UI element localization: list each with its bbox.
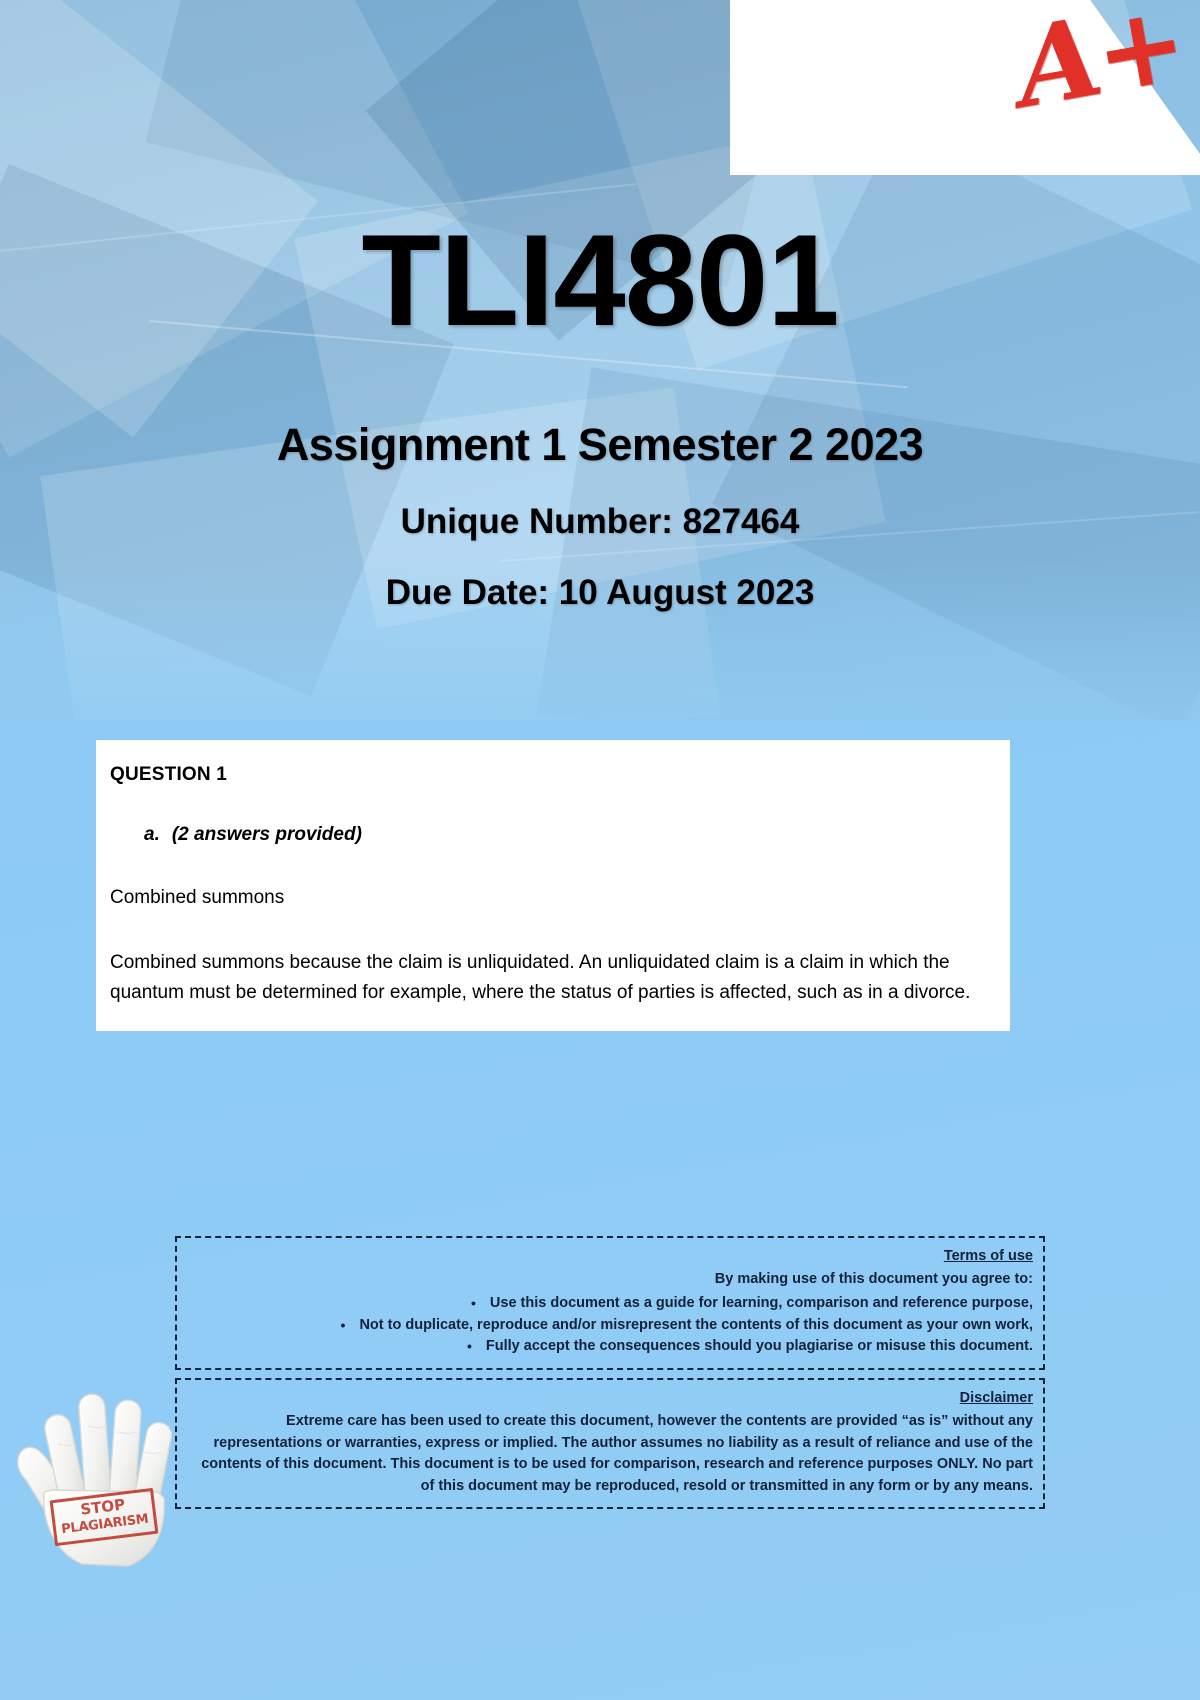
legal-notice-section: Terms of use By making use of this docum… bbox=[175, 1236, 1045, 1509]
course-code-title: TLI4801 bbox=[0, 215, 1200, 345]
terms-item-text: Fully accept the consequences should you… bbox=[486, 1338, 1033, 1354]
terms-of-use-box: Terms of use By making use of this docum… bbox=[175, 1236, 1045, 1370]
disclaimer-box: Disclaimer Extreme care has been used to… bbox=[175, 1378, 1045, 1509]
raised-hand-stop-plagiarism-icon: STOP PLAGIARISM bbox=[8, 1352, 198, 1582]
answer-short: Combined summons bbox=[110, 884, 996, 912]
question-preview-card: QUESTION 1 a.(2 answers provided) Combin… bbox=[96, 740, 1010, 1031]
terms-of-use-intro: By making use of this document you agree… bbox=[187, 1269, 1033, 1290]
a-plus-grade-icon: A+ bbox=[1008, 0, 1191, 124]
assignment-subtitle: Assignment 1 Semester 2 2023 bbox=[0, 345, 1200, 471]
cover-title-block: TLI4801 Assignment 1 Semester 2 2023 Uni… bbox=[0, 215, 1200, 613]
disclaimer-title: Disclaimer bbox=[187, 1388, 1033, 1409]
question-heading: QUESTION 1 bbox=[110, 764, 996, 786]
due-date-line: Due Date: 10 August 2023 bbox=[0, 542, 1200, 613]
terms-of-use-title: Terms of use bbox=[187, 1246, 1033, 1267]
sub-question-label: (2 answers provided) bbox=[172, 824, 362, 845]
sub-question-marker: a. bbox=[144, 824, 160, 845]
terms-item-text: Use this document as a guide for learnin… bbox=[490, 1295, 1033, 1311]
list-item: •Fully accept the consequences should yo… bbox=[187, 1336, 1033, 1358]
bullet-icon: • bbox=[471, 1293, 476, 1314]
terms-of-use-list: •Use this document as a guide for learni… bbox=[187, 1293, 1033, 1358]
list-item: •Use this document as a guide for learni… bbox=[187, 1293, 1033, 1315]
disclaimer-body: Extreme care has been used to create thi… bbox=[187, 1411, 1033, 1497]
unique-number-line: Unique Number: 827464 bbox=[0, 471, 1200, 542]
bullet-icon: • bbox=[341, 1315, 346, 1336]
answer-paragraph: Combined summons because the claim is un… bbox=[110, 948, 996, 1010]
assignment-cover-page: A+ TLI4801 Assignment 1 Semester 2 2023 … bbox=[0, 0, 1200, 1700]
bullet-icon: • bbox=[467, 1336, 472, 1357]
terms-item-text: Not to duplicate, reproduce and/or misre… bbox=[359, 1317, 1033, 1333]
list-item: •Not to duplicate, reproduce and/or misr… bbox=[187, 1315, 1033, 1337]
sub-question-item: a.(2 answers provided) bbox=[110, 824, 996, 846]
